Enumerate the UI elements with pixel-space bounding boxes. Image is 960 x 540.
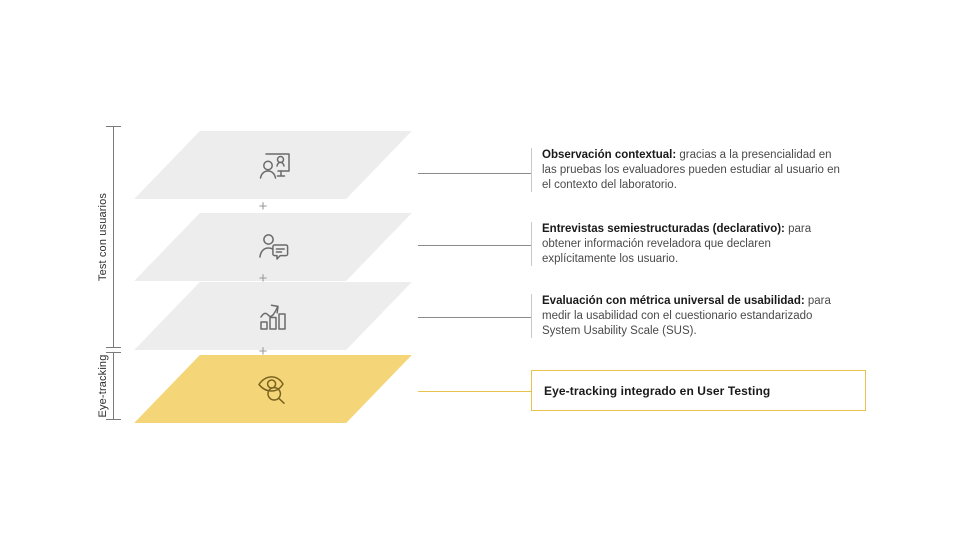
description-title: Entrevistas semiestructuradas (declarati…	[542, 223, 785, 235]
description-title: Observación contextual:	[542, 149, 676, 161]
connector-line-1	[418, 173, 532, 174]
layer-entrevistas-semiestructuradas[interactable]	[134, 213, 412, 281]
diagram-canvas: Test con usuarios Eye-tracking +	[0, 0, 960, 540]
eye-magnifier-icon	[250, 366, 296, 412]
layer-observacion-contextual[interactable]	[134, 131, 412, 199]
description-observacion-contextual: Observación contextual: gracias a la pre…	[531, 148, 842, 192]
bracket-eye-tracking: Eye-tracking	[106, 352, 121, 420]
callout-eye-tracking-integrado[interactable]: Eye-tracking integrado en User Testing	[531, 370, 866, 411]
layer-eye-tracking[interactable]	[134, 355, 412, 423]
bracket-test-con-usuarios: Test con usuarios	[106, 126, 121, 348]
connector-line-3	[418, 317, 532, 318]
plus-separator-1: +	[256, 200, 270, 214]
user-research-presentation-icon	[250, 142, 296, 188]
layer-evaluacion-metrica-usabilidad[interactable]	[134, 282, 412, 350]
description-title: Evaluación con métrica universal de usab…	[542, 295, 805, 307]
callout-label: Eye-tracking integrado en User Testing	[544, 384, 770, 398]
connector-line-4	[418, 391, 532, 392]
description-evaluacion-metrica-usabilidad: Evaluación con métrica universal de usab…	[531, 294, 842, 338]
connector-line-2	[418, 245, 532, 246]
bracket-label-test-con-usuarios: Test con usuarios	[97, 193, 109, 281]
description-entrevistas-semiestructuradas: Entrevistas semiestructuradas (declarati…	[531, 222, 842, 266]
bracket-cap-bottom	[106, 347, 121, 348]
bar-chart-growth-icon	[250, 293, 296, 339]
bracket-spine	[113, 352, 114, 420]
bracket-label-eye-tracking: Eye-tracking	[97, 355, 109, 418]
person-speech-bubble-icon	[250, 224, 296, 270]
bracket-cap-bottom	[106, 419, 121, 420]
bracket-spine	[113, 126, 114, 348]
